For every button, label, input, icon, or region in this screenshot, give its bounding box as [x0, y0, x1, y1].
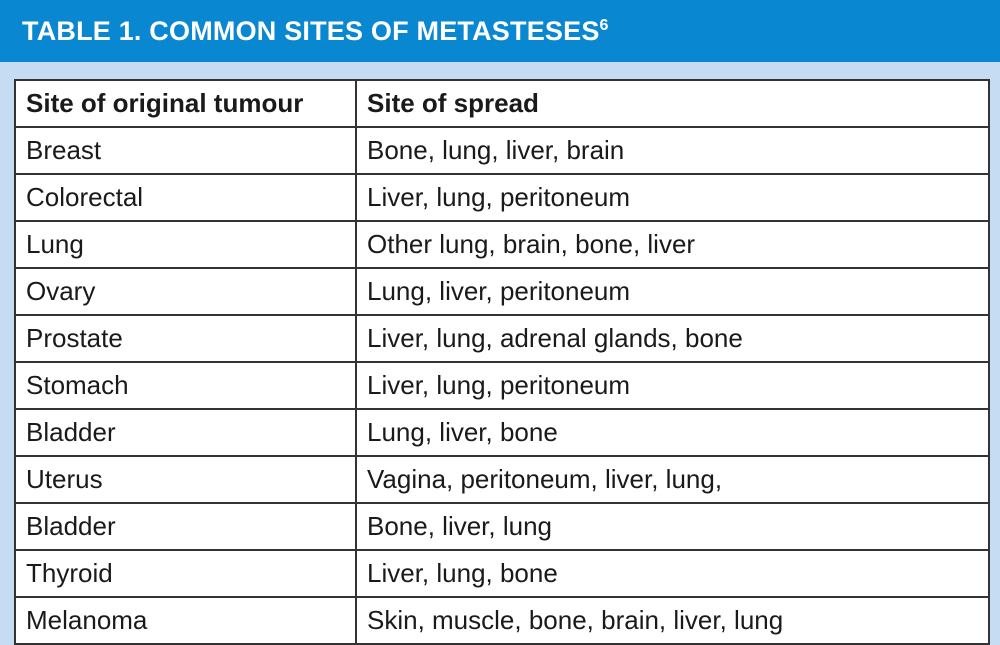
column-header-site-of-spread: Site of spread — [356, 80, 989, 127]
cell-site-of-original-tumour: Bladder — [15, 503, 356, 550]
cell-site-of-original-tumour: Lung — [15, 221, 356, 268]
table-header: Site of original tumour Site of spread — [15, 80, 989, 127]
cell-site-of-original-tumour: Uterus — [15, 456, 356, 503]
cell-site-of-spread: Other lung, brain, bone, liver — [356, 221, 989, 268]
cell-site-of-spread: Bone, lung, liver, brain — [356, 127, 989, 174]
cell-site-of-spread: Liver, lung, adrenal glands, bone — [356, 315, 989, 362]
table-header-row: Site of original tumour Site of spread — [15, 80, 989, 127]
table-caption-text: TABLE 1. COMMON SITES OF METASTESES6 — [22, 18, 609, 45]
cell-site-of-original-tumour: Melanoma — [15, 597, 356, 644]
table-row: Uterus Vagina, peritoneum, liver, lung, — [15, 456, 989, 503]
table-row: Thyroid Liver, lung, bone — [15, 550, 989, 597]
table-row: Bladder Bone, liver, lung — [15, 503, 989, 550]
cell-site-of-spread: Lung, liver, peritoneum — [356, 268, 989, 315]
table-row: Bladder Lung, liver, bone — [15, 409, 989, 456]
cell-site-of-original-tumour: Bladder — [15, 409, 356, 456]
table-row: Melanoma Skin, muscle, bone, brain, live… — [15, 597, 989, 644]
cell-site-of-original-tumour: Stomach — [15, 362, 356, 409]
cell-site-of-original-tumour: Ovary — [15, 268, 356, 315]
cell-site-of-spread: Skin, muscle, bone, brain, liver, lung — [356, 597, 989, 644]
cell-site-of-spread: Vagina, peritoneum, liver, lung, — [356, 456, 989, 503]
table-row: Colorectal Liver, lung, peritoneum — [15, 174, 989, 221]
table-row: Stomach Liver, lung, peritoneum — [15, 362, 989, 409]
cell-site-of-original-tumour: Prostate — [15, 315, 356, 362]
cell-site-of-spread: Liver, lung, peritoneum — [356, 362, 989, 409]
table-figure: TABLE 1. COMMON SITES OF METASTESES6 Sit… — [0, 0, 1000, 641]
table-row: Breast Bone, lung, liver, brain — [15, 127, 989, 174]
cell-site-of-spread: Liver, lung, peritoneum — [356, 174, 989, 221]
cell-site-of-spread: Bone, liver, lung — [356, 503, 989, 550]
table-row: Lung Other lung, brain, bone, liver — [15, 221, 989, 268]
table-row: Prostate Liver, lung, adrenal glands, bo… — [15, 315, 989, 362]
cell-site-of-spread: Liver, lung, bone — [356, 550, 989, 597]
cell-site-of-spread: Lung, liver, bone — [356, 409, 989, 456]
column-header-site-of-original-tumour: Site of original tumour — [15, 80, 356, 127]
table-container: Site of original tumour Site of spread B… — [14, 79, 990, 623]
cell-site-of-original-tumour: Thyroid — [15, 550, 356, 597]
metastases-table: Site of original tumour Site of spread B… — [14, 79, 990, 645]
table-body: Breast Bone, lung, liver, brain Colorect… — [15, 127, 989, 644]
table-caption-bar: TABLE 1. COMMON SITES OF METASTESES6 — [0, 0, 1000, 62]
cell-site-of-original-tumour: Breast — [15, 127, 356, 174]
cell-site-of-original-tumour: Colorectal — [15, 174, 356, 221]
table-row: Ovary Lung, liver, peritoneum — [15, 268, 989, 315]
caption-reference-superscript: 6 — [600, 17, 609, 34]
caption-label: TABLE 1. COMMON SITES OF METASTESES — [22, 16, 600, 46]
